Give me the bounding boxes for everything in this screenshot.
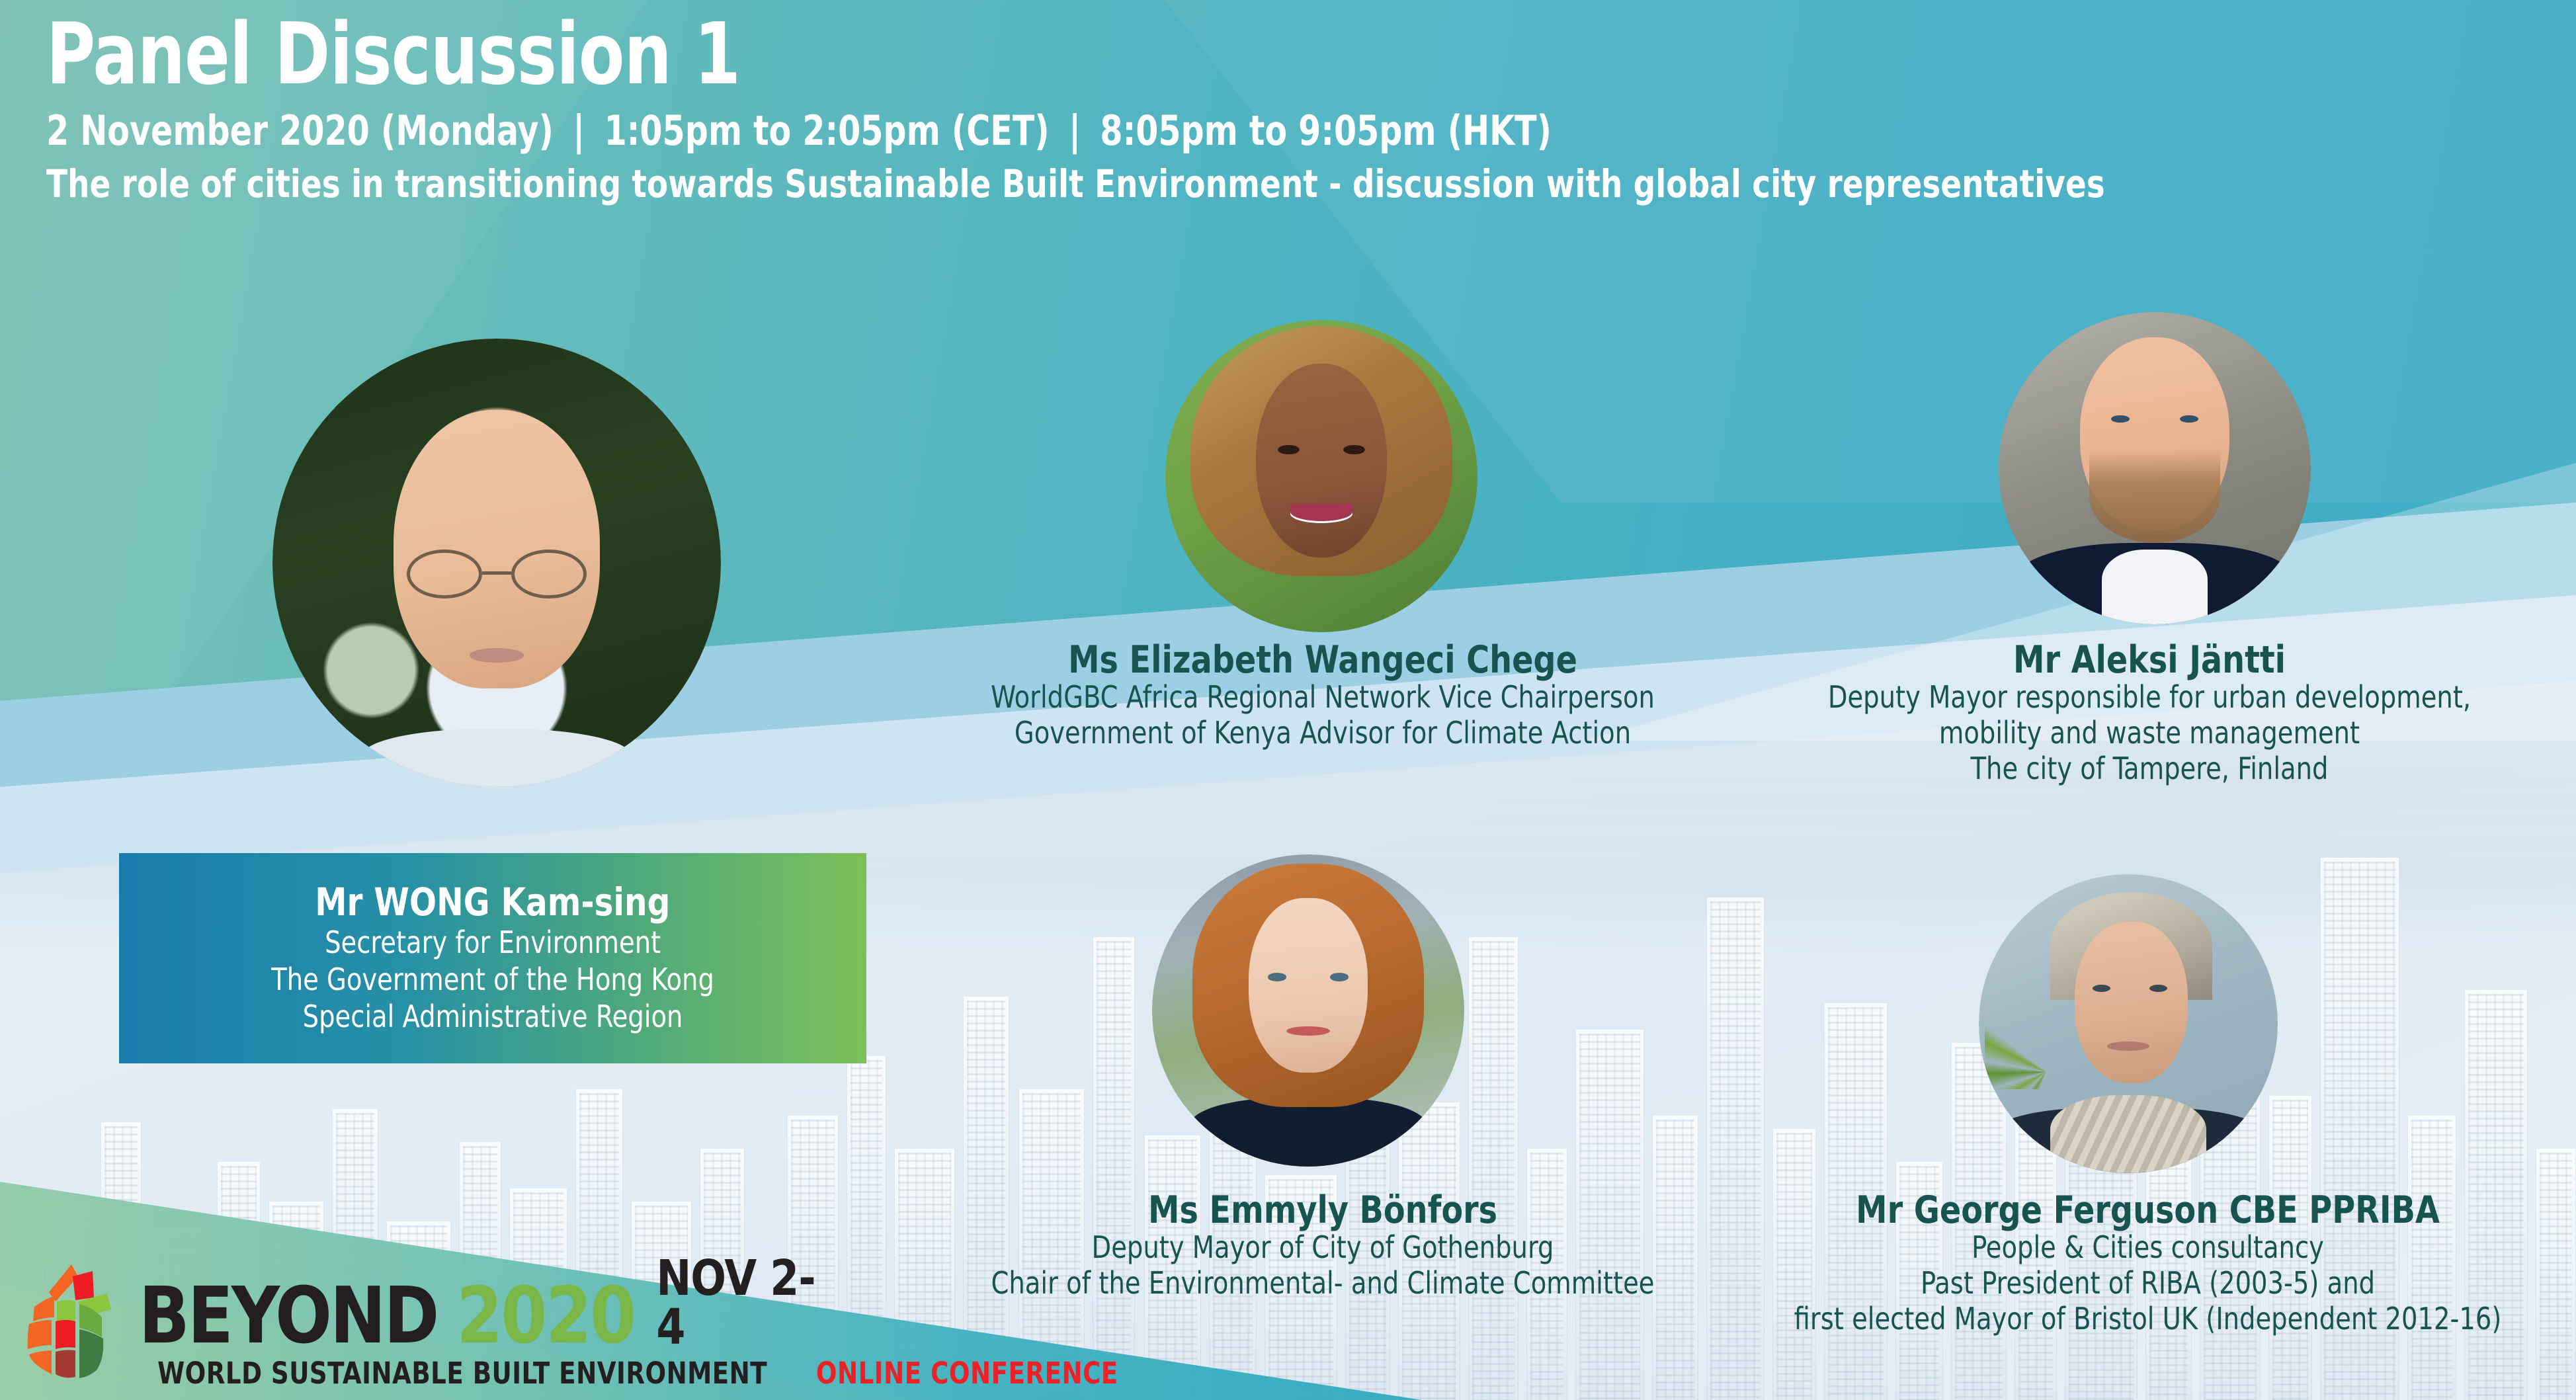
portrait-aleksi-jantti: [1999, 312, 2311, 624]
header-date: 2 November 2020 (Monday): [46, 106, 554, 155]
speaker-role-ferguson-line-3: first elected Mayor of Bristol UK (Indep…: [1749, 1301, 2546, 1337]
speaker-name-jantti: Mr Aleksi Jäntti: [1756, 640, 2543, 680]
speaker-name-bonfors: Ms Emmyly Bönfors: [892, 1190, 1753, 1230]
speaker-role-jantti-line-3: The city of Tampere, Finland: [1756, 751, 2543, 787]
logo-dates: NOV 2-4: [656, 1254, 841, 1352]
header-time-hkt: 8:05pm to 9:05pm (HKT): [1100, 106, 1552, 155]
logo-tagline: WORLD SUSTAINABLE BUILT ENVIRONMENT: [157, 1358, 767, 1388]
speaker-role-wong-line-2: The Government of the Hong Kong: [271, 961, 714, 998]
panel-discussion-poster: Panel Discussion 1 2 November 2020 (Mond…: [0, 0, 2576, 1400]
speaker-role-ferguson-line-2: Past President of RIBA (2003-5) and: [1749, 1266, 2546, 1301]
header: Panel Discussion 1 2 November 2020 (Mond…: [46, 12, 2553, 206]
speaker-role-ferguson-line-1: People & Cities consultancy: [1749, 1230, 2546, 1266]
portrait-george-ferguson: [1979, 874, 2278, 1173]
header-time-cet: 1:05pm to 2:05pm (CET): [604, 106, 1050, 155]
logo-tagline-row: WORLD SUSTAINABLE BUILT ENVIRONMENT ONLI…: [131, 1358, 845, 1388]
speaker-role-bonfors-line-2: Chair of the Environmental- and Climate …: [892, 1266, 1753, 1301]
header-topic: The role of cities in transitioning towa…: [46, 163, 2302, 206]
portrait-emmyly-bonfors: [1152, 854, 1464, 1167]
globe-leaf-icon: [15, 1260, 126, 1379]
portrait-wong-kam-sing: [272, 339, 721, 787]
speaker-card-wong-kam-sing: Mr WONG Kam-sing Secretary for Environme…: [119, 853, 866, 1063]
speaker-name-ferguson: Mr George Ferguson CBE PPRIBA: [1749, 1190, 2546, 1230]
speaker-card-elizabeth-wangeci-chege: Ms Elizabeth Wangeci Chege WorldGBC Afri…: [847, 640, 1799, 751]
header-separator-1: |: [565, 106, 593, 155]
speaker-role-wong-line-3: Special Administrative Region: [303, 998, 683, 1035]
beyond-2020-logo: BEYOND 2020 NOV 2-4 WORLD SUSTAINABLE BU…: [15, 1254, 848, 1386]
portrait-elizabeth-wangeci-chege: [1165, 320, 1477, 632]
speaker-role-chege-line-1: WorldGBC Africa Regional Network Vice Ch…: [880, 680, 1765, 716]
speaker-role-jantti-line-1: Deputy Mayor responsible for urban devel…: [1756, 680, 2543, 716]
speaker-name-chege: Ms Elizabeth Wangeci Chege: [880, 640, 1765, 680]
page-title: Panel Discussion 1: [46, 12, 2252, 99]
logo-tagline-online: ONLINE CONFERENCE: [816, 1358, 1118, 1388]
speaker-card-aleksi-jantti: Mr Aleksi Jäntti Deputy Mayor responsibl…: [1726, 640, 2573, 787]
speaker-role-chege-line-2: Government of Kenya Advisor for Climate …: [880, 716, 1765, 751]
speaker-role-jantti-line-2: mobility and waste management: [1756, 716, 2543, 751]
logo-word-2020: 2020: [456, 1276, 634, 1354]
speaker-card-emmyly-bonfors: Ms Emmyly Bönfors Deputy Mayor of City o…: [860, 1190, 1786, 1301]
header-datetime: 2 November 2020 (Monday) | 1:05pm to 2:0…: [46, 108, 2252, 153]
speaker-card-george-ferguson: Mr George Ferguson CBE PPRIBA People & C…: [1720, 1190, 2576, 1337]
header-separator-2: |: [1061, 106, 1089, 155]
speaker-role-bonfors-line-1: Deputy Mayor of City of Gothenburg: [892, 1230, 1753, 1266]
speaker-role-wong-line-1: Secretary for Environment: [325, 924, 661, 961]
logo-word-beyond: BEYOND: [139, 1276, 438, 1354]
speaker-name-wong: Mr WONG Kam-sing: [315, 882, 670, 924]
logo-wordmark-row: BEYOND 2020 NOV 2-4: [131, 1254, 845, 1354]
